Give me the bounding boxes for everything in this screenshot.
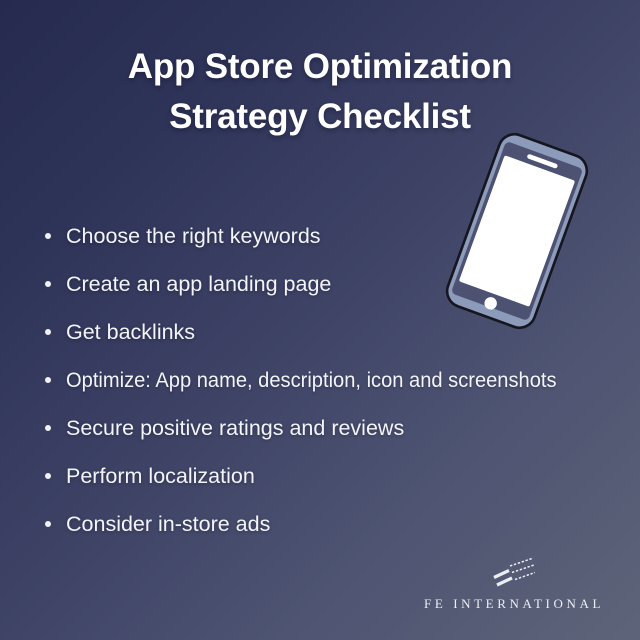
list-item: Consider in-store ads [44,500,604,548]
title-line-1: App Store Optimization [0,42,640,92]
list-item-label: Secure positive ratings and reviews [66,415,404,441]
bullet-icon [45,425,51,431]
page-title: App Store Optimization Strategy Checklis… [0,42,640,142]
list-item-label: Get backlinks [66,319,195,345]
title-line-2: Strategy Checklist [0,92,640,142]
list-item: Get backlinks [44,308,604,356]
bullet-icon [45,281,51,287]
bullet-icon [45,473,51,479]
poster-canvas: App Store Optimization Strategy Checklis… [0,0,640,640]
bullet-icon [45,377,51,383]
list-item: Create an app landing page [44,260,604,308]
list-item-label: Perform localization [66,463,255,489]
list-item: Secure positive ratings and reviews [44,404,604,452]
brand-wordmark: FE INTERNATIONAL [424,596,604,612]
brand-logo: FE INTERNATIONAL [424,557,604,612]
list-item-label: Choose the right keywords [66,223,321,249]
bullet-icon [45,521,51,527]
list-item: Optimize: App name, description, icon an… [44,356,604,404]
list-item-label: Optimize: App name, description, icon an… [66,367,557,393]
list-item: Choose the right keywords [44,212,604,260]
bullet-icon [45,329,51,335]
list-item-label: Consider in-store ads [66,511,270,537]
list-item-label: Create an app landing page [66,271,331,297]
list-item: Perform localization [44,452,604,500]
fe-international-mark-icon [492,557,536,589]
checklist: Choose the right keywords Create an app … [44,212,604,548]
bullet-icon [45,233,51,239]
